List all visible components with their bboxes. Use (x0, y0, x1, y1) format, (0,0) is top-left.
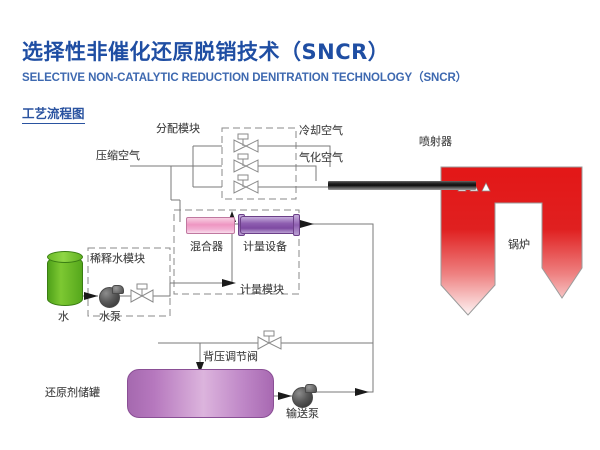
label-dilution-water-module: 稀释水模块 (90, 250, 145, 266)
valve-atomizing-air (234, 175, 258, 193)
boiler-graphic (0, 0, 600, 450)
valve-dilution-water (131, 284, 153, 302)
label-cooling-air: 冷却空气 (299, 122, 343, 138)
valve-vaporizing-air (234, 154, 258, 172)
label-back-pressure-valve: 背压调节阀 (203, 348, 258, 364)
label-boiler: 锅炉 (508, 236, 530, 252)
label-mixer: 混合器 (190, 238, 223, 254)
reductant-storage-tank (127, 369, 274, 418)
distribution-module-boundary (222, 128, 296, 199)
metering-equipment-vessel (240, 216, 298, 234)
label-water-pump: 水泵 (99, 308, 121, 324)
valve-cooling-air (234, 134, 258, 152)
valve-back-pressure-regulating (258, 331, 281, 349)
label-distribution-module: 分配模块 (156, 120, 200, 136)
label-metering-equipment: 计量设备 (243, 238, 287, 254)
delivery-pump-outlet (305, 384, 317, 393)
process-flow-diagram: 分配模块 压缩空气 冷却空气 气化空气 喷射器 锅炉 混合器 计量设备 计量模块… (0, 0, 600, 450)
label-vaporizing-air: 气化空气 (299, 149, 343, 165)
label-delivery-pump: 输送泵 (286, 405, 319, 421)
label-water: 水 (58, 308, 69, 324)
water-tank (47, 256, 83, 306)
water-pump-outlet (112, 285, 124, 294)
label-injector: 喷射器 (419, 133, 452, 149)
label-metering-module: 计量模块 (240, 281, 284, 297)
mixer-vessel (186, 217, 235, 234)
label-reductant-tank: 还原剂储罐 (45, 384, 100, 400)
water-tank-lid (47, 251, 83, 263)
injector-lance (328, 181, 476, 190)
label-compressed-air: 压缩空气 (96, 147, 140, 163)
metering-equipment-end-right (293, 214, 300, 236)
slide-canvas: 选择性非催化还原脱销技术（SNCR） SELECTIVE NON-CATALYT… (0, 0, 600, 450)
